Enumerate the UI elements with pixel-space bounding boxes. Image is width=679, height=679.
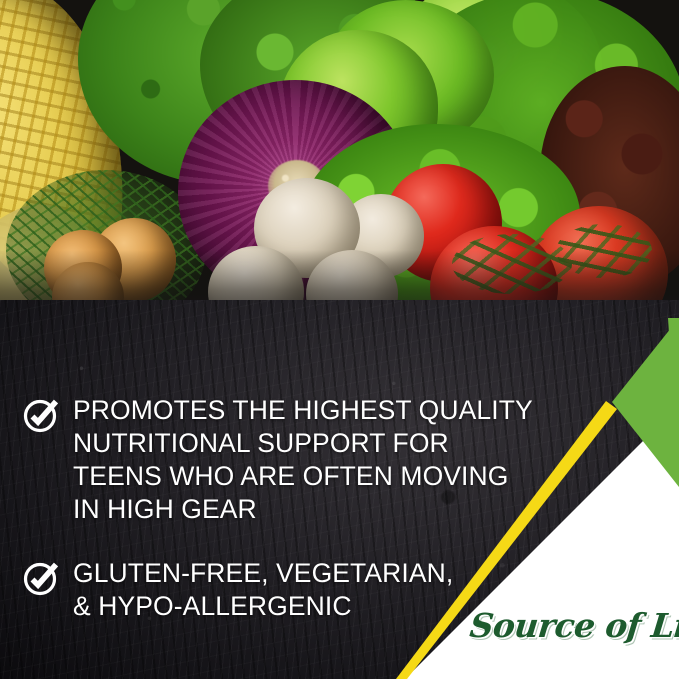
- benefit-text-2: GLUTEN-FREE, VEGETARIAN, & HYPO-ALLERGEN…: [73, 557, 453, 623]
- brand-logo: Source of Life®: [470, 600, 670, 650]
- brand-logo-text: Source of Life®: [468, 606, 679, 645]
- benefit-item-1: PROMOTES THE HIGHEST QUALITY NUTRITIONAL…: [22, 394, 533, 526]
- benefits-list: PROMOTES THE HIGHEST QUALITY NUTRITIONAL…: [0, 0, 679, 679]
- check-circle-icon: [22, 396, 60, 434]
- benefit-item-2: GLUTEN-FREE, VEGETARIAN, & HYPO-ALLERGEN…: [22, 557, 453, 623]
- benefit-text-1: PROMOTES THE HIGHEST QUALITY NUTRITIONAL…: [73, 394, 533, 526]
- check-circle-icon: [22, 559, 60, 597]
- product-benefit-poster: PROMOTES THE HIGHEST QUALITY NUTRITIONAL…: [0, 0, 679, 679]
